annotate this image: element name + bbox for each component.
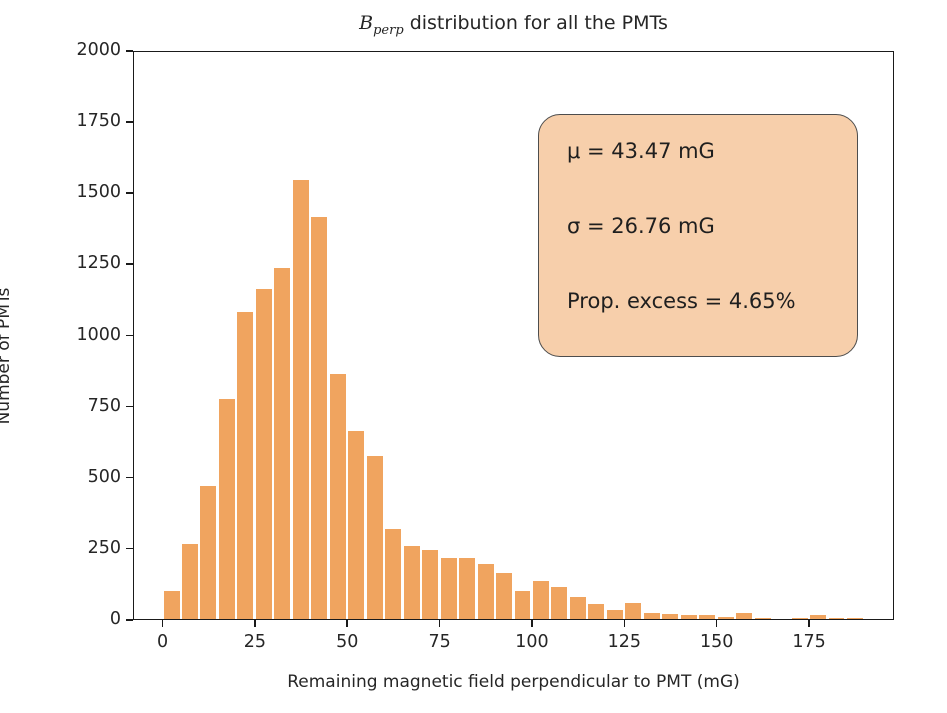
x-tick-mark	[254, 620, 256, 627]
histogram-bar	[792, 618, 808, 619]
y-tick-mark	[126, 406, 133, 408]
histogram-bar	[256, 289, 272, 619]
y-tick-label: 2000	[76, 40, 121, 60]
x-tick-mark	[716, 620, 718, 627]
histogram-bar	[164, 591, 180, 619]
x-tick-label: 50	[307, 632, 387, 652]
y-tick-label: 0	[110, 609, 121, 629]
histogram-bar	[311, 217, 327, 619]
histogram-bar	[810, 615, 826, 619]
histogram-bar	[459, 558, 475, 619]
histogram-bar	[200, 486, 216, 619]
histogram-bar	[219, 399, 235, 619]
y-tick-mark	[126, 548, 133, 550]
x-tick-label: 125	[584, 632, 664, 652]
y-tick-label: 500	[88, 467, 121, 487]
x-tick-label: 150	[677, 632, 757, 652]
x-tick-mark	[439, 620, 441, 627]
histogram-bar	[662, 614, 678, 619]
histogram-bar	[551, 587, 567, 619]
y-tick-label: 1500	[76, 182, 121, 202]
stat-mean: μ = 43.47 mG	[567, 141, 857, 162]
x-tick-label: 100	[492, 632, 572, 652]
histogram-bar	[385, 529, 401, 619]
histogram-bar	[829, 618, 845, 619]
x-tick-mark	[531, 620, 533, 627]
histogram-bar	[570, 597, 586, 619]
histogram-bar	[718, 617, 734, 619]
y-tick-mark	[126, 121, 133, 123]
y-axis-label: Number of PMTs	[0, 236, 14, 476]
histogram-bar	[625, 603, 641, 619]
title-math-subscript: perp	[373, 23, 404, 38]
x-tick-label: 175	[769, 632, 849, 652]
histogram-bar	[367, 456, 383, 619]
y-tick-mark	[126, 477, 133, 479]
y-tick-label: 1000	[76, 325, 121, 345]
histogram-bar	[699, 615, 715, 619]
histogram-bar	[681, 615, 697, 619]
histogram-bar	[478, 564, 494, 619]
histogram-bar	[330, 374, 346, 619]
y-tick-mark	[126, 619, 133, 621]
y-tick-mark	[126, 335, 133, 337]
histogram-bar	[274, 268, 290, 619]
histogram-bar	[182, 544, 198, 619]
histogram-bar	[237, 312, 253, 619]
x-tick-mark	[624, 620, 626, 627]
histogram-bar	[422, 550, 438, 619]
histogram-bar	[293, 180, 309, 619]
histogram-bar	[441, 558, 457, 619]
x-axis-label: Remaining magnetic field perpendicular t…	[133, 672, 894, 692]
title-math-variable: B	[359, 12, 373, 34]
histogram-bar	[404, 546, 420, 619]
stat-prop-excess: Prop. excess = 4.65%	[567, 291, 857, 312]
histogram-bar	[533, 581, 549, 619]
x-tick-mark	[162, 620, 164, 627]
y-tick-label: 1250	[76, 253, 121, 273]
y-tick-mark	[126, 192, 133, 194]
y-tick-label: 1750	[76, 111, 121, 131]
stats-annotation-box: μ = 43.47 mG σ = 26.76 mG Prop. excess =…	[538, 114, 858, 357]
histogram-bar	[755, 618, 771, 619]
y-tick-mark	[126, 263, 133, 265]
x-tick-label: 0	[123, 632, 203, 652]
x-tick-mark	[808, 620, 810, 627]
histogram-bar	[588, 604, 604, 619]
y-tick-label: 750	[88, 396, 121, 416]
x-tick-label: 25	[215, 632, 295, 652]
histogram-bar	[515, 591, 531, 619]
histogram-bar	[847, 618, 863, 619]
stat-sigma: σ = 26.76 mG	[567, 216, 857, 237]
y-tick-mark	[126, 50, 133, 52]
x-tick-mark	[346, 620, 348, 627]
title-text: distribution for all the PMTs	[404, 12, 668, 34]
histogram-bar	[496, 573, 512, 619]
histogram-bar	[348, 431, 364, 619]
histogram-bar	[736, 613, 752, 619]
histogram-figure: Bperp distribution for all the PMTs Numb…	[0, 0, 947, 713]
histogram-bar	[607, 610, 623, 619]
x-tick-label: 75	[400, 632, 480, 652]
y-tick-label: 250	[88, 538, 121, 558]
histogram-bar	[644, 613, 660, 619]
chart-title: Bperp distribution for all the PMTs	[133, 12, 894, 38]
